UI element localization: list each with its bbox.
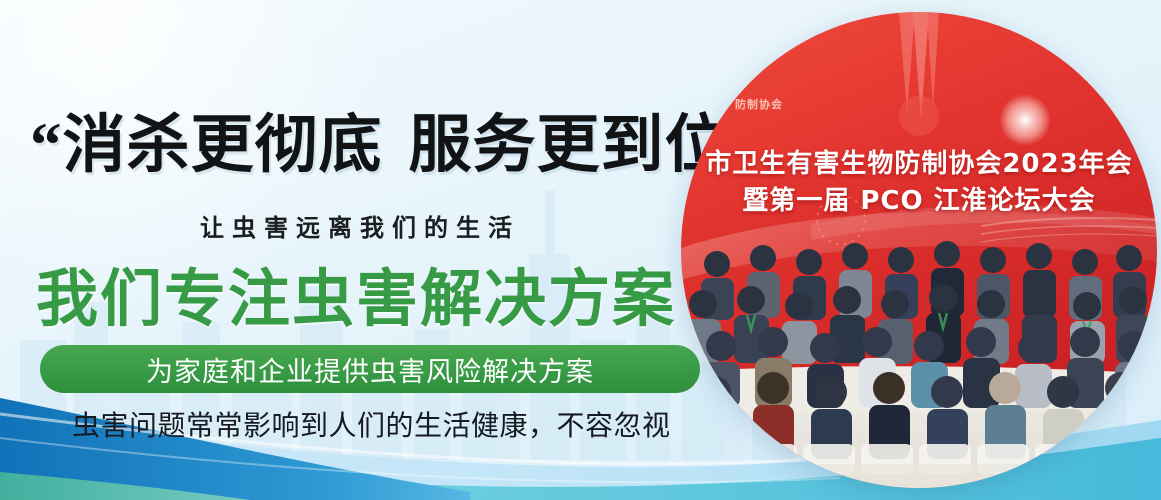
main-headline: “消杀更彻底服务更到位”	[30, 113, 761, 177]
banner-text-column: “消杀更彻底服务更到位” 让虫害远离我们的生活 我们专注虫害解决方案 为家庭和企…	[0, 0, 720, 500]
conference-group-photo: 防制协会 市卫生有害生物防制协会2023年会 暨第一届 PCO 江淮论坛大会	[681, 12, 1157, 488]
photo-backdrop-line-2: 暨第一届 PCO 江淮论坛大会	[681, 180, 1157, 217]
headline-subtitle: 让虫害远离我们的生活	[200, 208, 520, 243]
service-pill-label: 为家庭和企业提供虫害风险解决方案	[146, 350, 594, 389]
photo-backdrop-line-1: 市卫生有害生物防制协会2023年会	[681, 143, 1157, 180]
green-headline: 我们专注虫害解决方案	[36, 268, 676, 330]
photo-illustration	[681, 12, 1157, 488]
headline-open-quote: “	[30, 110, 63, 180]
photo-association-logo: 防制协会	[735, 96, 783, 112]
promo-banner: “消杀更彻底服务更到位” 让虫害远离我们的生活 我们专注虫害解决方案 为家庭和企…	[0, 0, 1161, 500]
service-pill-banner: 为家庭和企业提供虫害风险解决方案	[40, 345, 700, 393]
bottom-tagline: 虫害问题常常影响到人们的生活健康，不容忽视	[72, 404, 671, 444]
headline-part-one: 消杀更彻底	[63, 108, 383, 181]
